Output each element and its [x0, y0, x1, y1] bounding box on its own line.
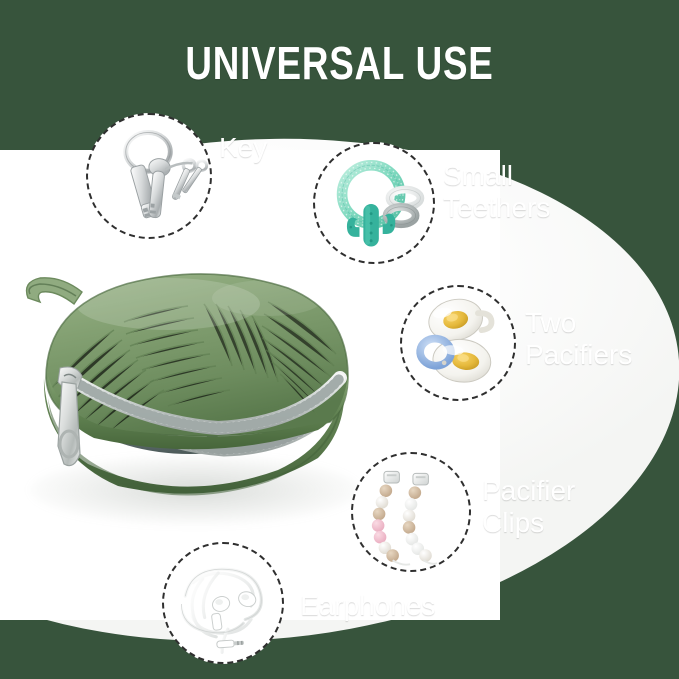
- callout-circle-pacifier-clips[interactable]: [351, 452, 471, 572]
- page-title: UNIVERSAL USE: [68, 36, 611, 90]
- callout-label-two-pacifiers: Two Pacifiers: [525, 307, 632, 372]
- callout-circle-earphones[interactable]: [162, 542, 284, 664]
- pacifier-clips-icon: [353, 454, 469, 570]
- pacifiers-icon: [402, 287, 514, 399]
- earphones-icon: [164, 544, 282, 662]
- product-image-pouch: [18, 258, 358, 516]
- callout-label-small-teethers: Small Teethers: [443, 160, 550, 225]
- earbud: [237, 590, 258, 609]
- callout-label-pacifier-clips: Pacifier Clips: [482, 475, 575, 540]
- audio-jack: [217, 639, 244, 648]
- wrist-strap: [27, 278, 83, 304]
- callout-label-earphones: Earphones: [300, 590, 435, 622]
- zipper-pull: [58, 367, 82, 466]
- earbud: [210, 594, 231, 614]
- callout-circle-small-teethers[interactable]: [313, 142, 435, 264]
- infographic-canvas: UNIVERSAL USE: [0, 0, 679, 679]
- callout-label-key: Key: [219, 132, 267, 164]
- teether-ring-icon: [315, 144, 433, 262]
- callout-circle-two-pacifiers[interactable]: [400, 285, 516, 401]
- inline-remote: [211, 613, 222, 630]
- pacifier-bottom: [417, 335, 492, 385]
- keys-icon: [88, 115, 210, 237]
- callout-circle-key[interactable]: [86, 113, 212, 239]
- clip-strand-right: [403, 473, 437, 563]
